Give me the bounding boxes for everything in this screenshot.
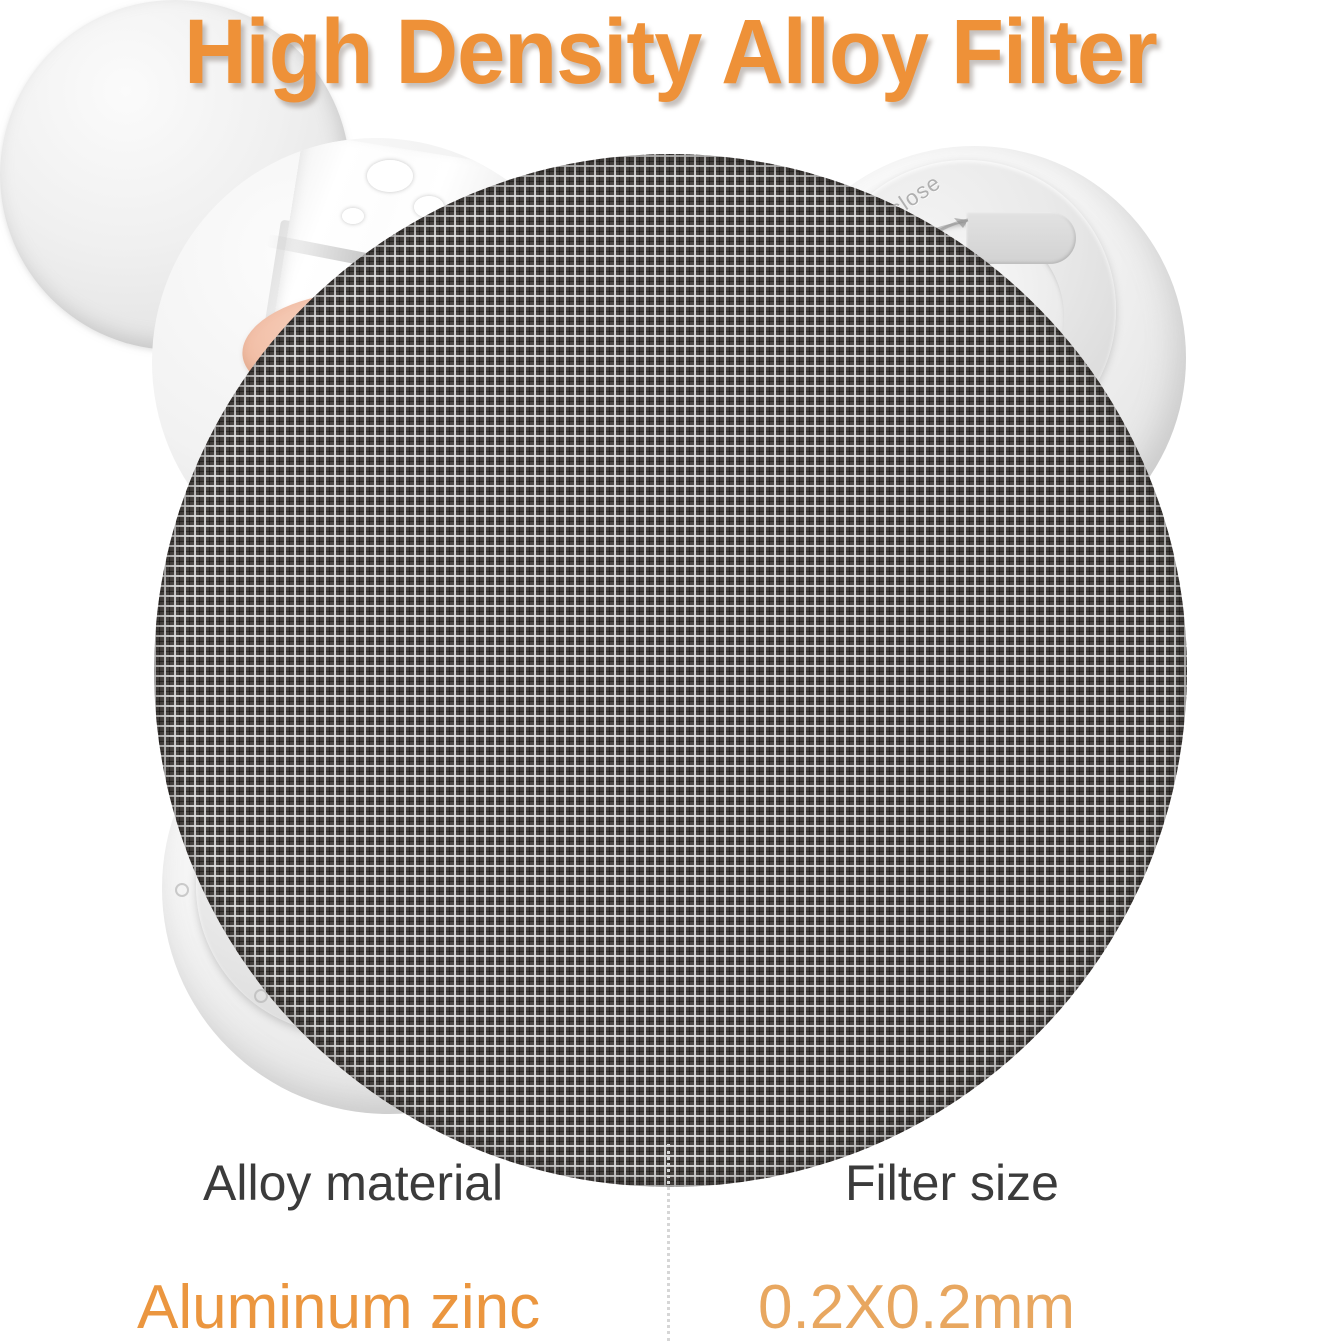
water-droplet: [367, 160, 413, 192]
spec-label-filter-size: Filter size: [845, 1154, 1059, 1212]
infographic-page: High Density Alloy Filter open close ▲: [0, 0, 1341, 1341]
water-droplet: [342, 208, 364, 224]
mesh-screen: [154, 154, 1187, 1187]
spec-value-filter-size: 0.2X0.2mm: [758, 1272, 1075, 1341]
spec-label-alloy-material: Alloy material: [203, 1154, 503, 1212]
page-title: High Density Alloy Filter: [40, 2, 1301, 102]
spec-divider: [667, 1144, 670, 1341]
spec-value-alloy-material: Aluminum zinc: [137, 1272, 540, 1341]
